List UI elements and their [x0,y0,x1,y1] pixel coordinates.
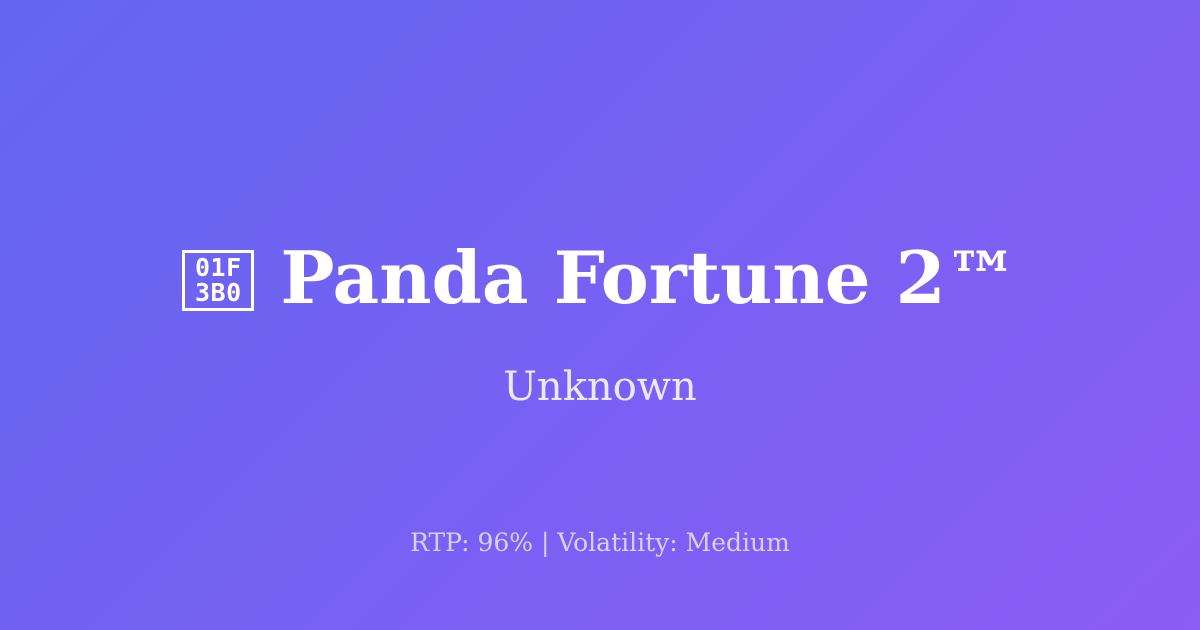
slot-machine-icon: 01F 3B0 [182,250,254,311]
provider-subtitle: Unknown [0,362,1200,412]
game-stats-line: RTP: 96% | Volatility: Medium [0,527,1200,559]
tofu-codepoint-bottom: 3B0 [195,280,242,305]
title-row: 01F 3B0 Panda Fortune 2™ [0,232,1200,324]
tofu-codepoint-top: 01F [195,255,242,280]
social-share-card: 01F 3B0 Panda Fortune 2™ Unknown RTP: 96… [0,0,1200,630]
page-title: Panda Fortune 2™ [280,237,1017,319]
